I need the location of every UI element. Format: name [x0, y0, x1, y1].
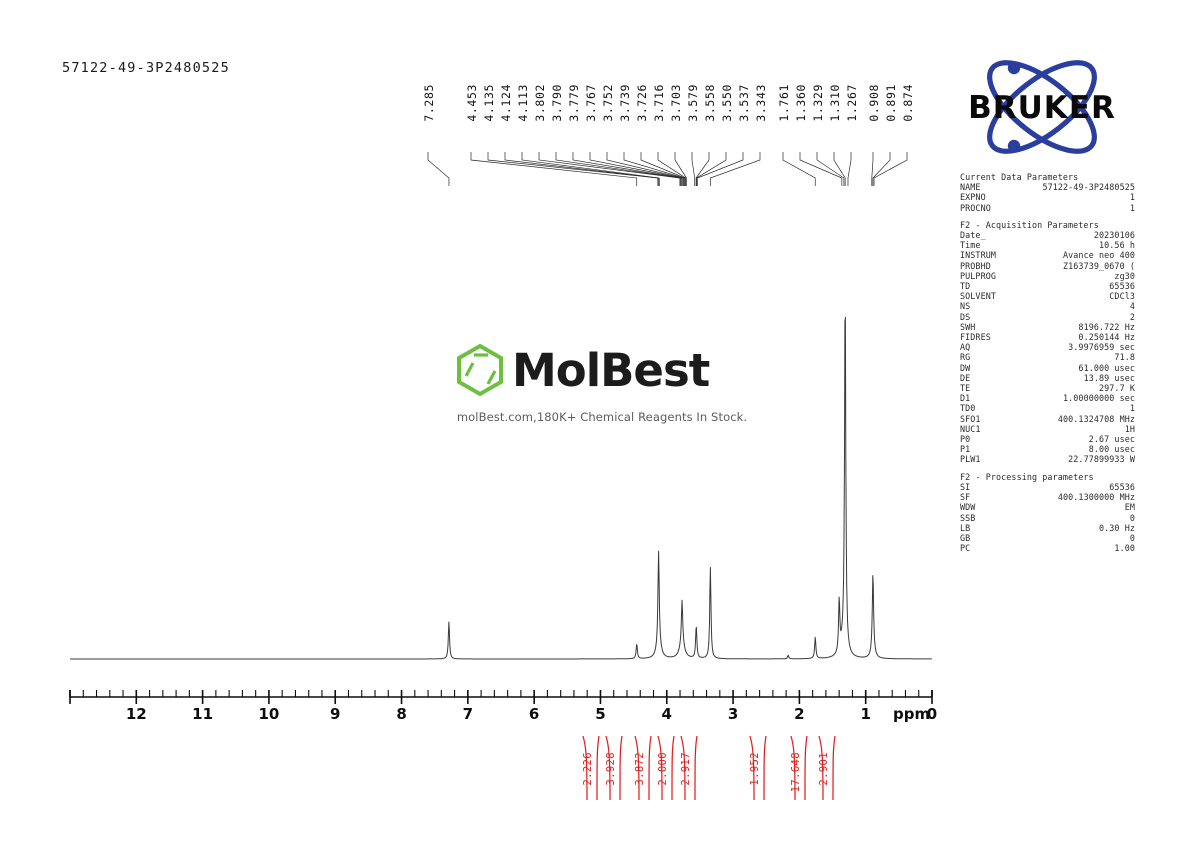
peak-leader-line — [641, 152, 685, 186]
peak-leader-line — [522, 152, 659, 186]
axis-tick-label: 8 — [396, 705, 406, 723]
integral-curve — [658, 736, 662, 800]
integral-curve — [583, 736, 587, 800]
peak-leader-line — [848, 152, 851, 186]
integral-curve — [635, 736, 639, 800]
integral-curve — [681, 736, 685, 800]
axis-tick-label: 5 — [595, 705, 605, 723]
peak-leader-line — [590, 152, 682, 186]
peak-leader-line — [692, 152, 695, 186]
integral-curve — [764, 736, 766, 800]
axis-tick-label: 11 — [192, 705, 213, 723]
integral-curve — [805, 736, 807, 800]
peak-leader-line — [696, 152, 709, 186]
integral-curve — [672, 736, 674, 800]
peak-leader-line — [697, 152, 726, 186]
spectrum-trace — [70, 317, 932, 659]
integral-curve — [791, 736, 795, 800]
axis-tick-label: 12 — [126, 705, 147, 723]
peak-leader-line — [710, 152, 760, 186]
axis-tick-label: 10 — [258, 705, 279, 723]
axis-tick-label: 2 — [794, 705, 804, 723]
integral-curve — [750, 736, 754, 800]
peak-leader-line — [873, 152, 890, 186]
axis-tick-label: 3 — [728, 705, 738, 723]
axis-tick-label: 7 — [463, 705, 473, 723]
integral-curve — [695, 736, 697, 800]
integral-curve — [819, 736, 823, 800]
integral-curve — [833, 736, 835, 800]
axis-tick-label: 4 — [662, 705, 672, 723]
axis-tick-label: 1 — [860, 705, 870, 723]
peak-leader-line — [800, 152, 842, 186]
integral-curve — [606, 736, 610, 800]
axis-unit-label: ppm — [893, 705, 930, 723]
peak-leader-line — [783, 152, 815, 186]
integral-curve — [649, 736, 651, 800]
axis-tick-label: 9 — [330, 705, 340, 723]
peak-leader-line — [874, 152, 907, 186]
nmr-spectrum: 1211109876543210ppm — [0, 0, 1190, 842]
peak-leader-line — [428, 152, 449, 186]
peak-leader-line — [834, 152, 845, 186]
axis-tick-label: 6 — [529, 705, 539, 723]
integral-curve — [597, 736, 599, 800]
integral-curve — [620, 736, 622, 800]
